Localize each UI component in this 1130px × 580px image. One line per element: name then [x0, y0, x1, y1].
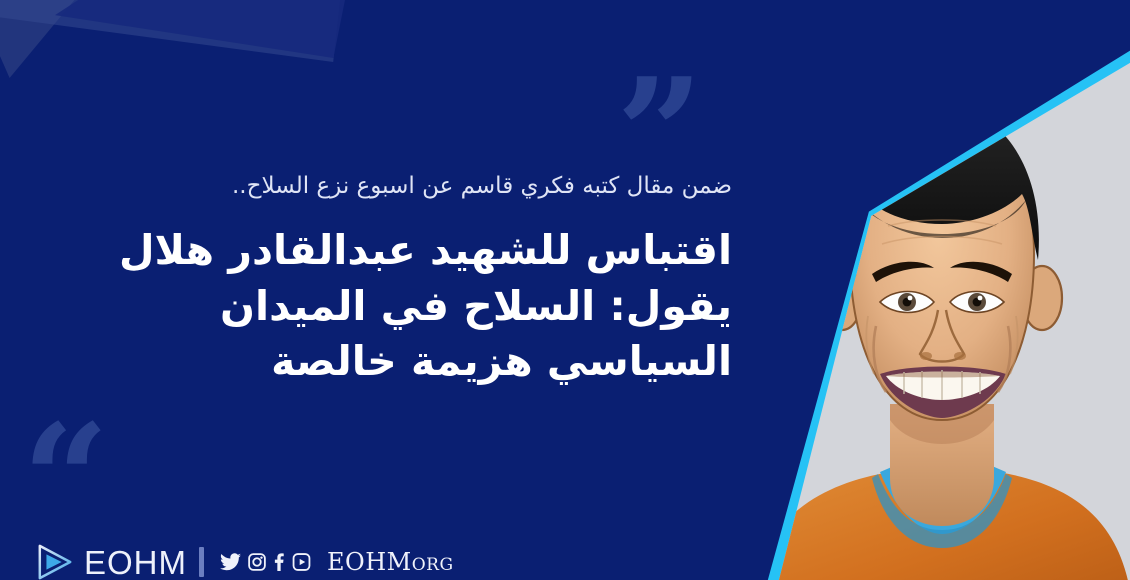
facebook-icon[interactable] [273, 553, 285, 571]
handle-suffix: ORG [412, 555, 454, 575]
instagram-icon[interactable] [248, 553, 266, 571]
decor-shape-band [0, 0, 340, 62]
nostril-right [954, 352, 966, 360]
poster-canvas: ” “ [0, 0, 1130, 580]
decor-shape-overlay [55, 0, 345, 58]
headline: اقتباس للشهيد عبدالقادر هلال يقول: السلا… [92, 223, 732, 390]
quote-text-block: ضمن مقال كتبه فكري قاسم عن اسبوع نزع الس… [92, 172, 732, 390]
brand-name: EOHM [84, 546, 187, 579]
portrait-panel: W W W . E O H M . O R G [700, 0, 1130, 580]
brand-divider [199, 547, 204, 577]
kicker-text: ضمن مقال كتبه فكري قاسم عن اسبوع نزع الس… [92, 172, 732, 201]
decor-shape-left [0, 0, 120, 78]
handle-main: EOHM [327, 548, 412, 576]
branding-bar: EOHM EOHMORG [36, 542, 454, 580]
twitter-icon[interactable] [220, 553, 241, 571]
headline-line-1: اقتباس للشهيد عبدالقادر هلال [92, 223, 732, 279]
opening-quote-icon: “ [22, 404, 103, 556]
social-icons [220, 553, 311, 571]
headline-line-2: يقول: السلاح في الميدان [92, 279, 732, 335]
youtube-icon[interactable] [292, 553, 311, 571]
nostril-left [920, 352, 932, 360]
headline-line-3: السياسي هزيمة خالصة [92, 334, 732, 390]
social-handle: EOHMORG [327, 550, 454, 574]
eohm-logo-icon[interactable] [36, 542, 74, 580]
